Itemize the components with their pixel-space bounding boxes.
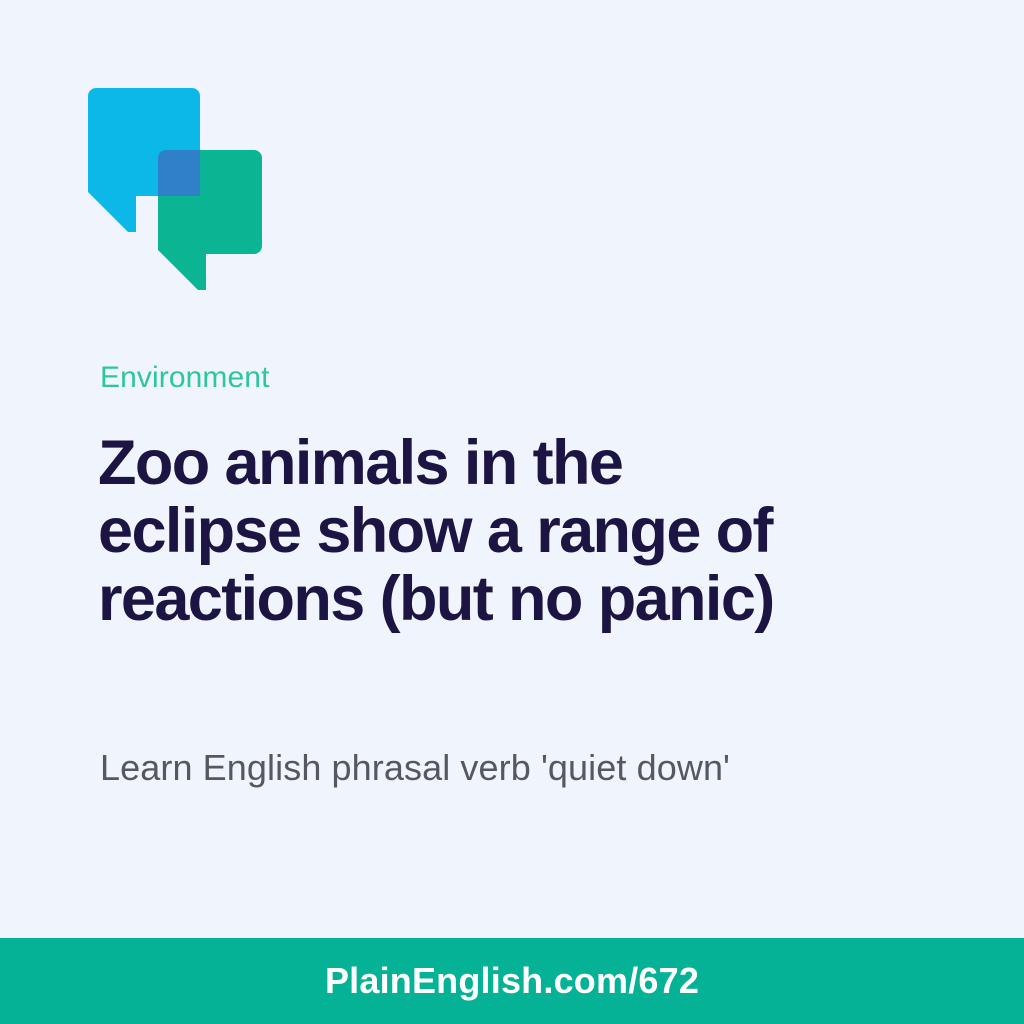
headline-line-1: Zoo animals in the xyxy=(98,429,978,497)
subtitle-text: Learn English phrasal verb 'quiet down' xyxy=(100,746,960,790)
headline-line-2: eclipse show a range of xyxy=(98,497,978,565)
page-title: Zoo animals in the eclipse show a range … xyxy=(98,429,978,633)
headline-line-3: reactions (but no panic) xyxy=(98,565,978,633)
category-label: Environment xyxy=(100,361,270,395)
speech-bubble-overlap xyxy=(158,150,200,196)
footer-bar: PlainEnglish.com/672 xyxy=(0,938,1024,1024)
speech-bubbles-icon xyxy=(88,88,268,293)
lesson-card: Environment Zoo animals in the eclipse s… xyxy=(0,0,1024,1024)
plain-english-logo[interactable] xyxy=(88,88,268,293)
footer-url-label[interactable]: PlainEnglish.com/672 xyxy=(325,960,699,1002)
